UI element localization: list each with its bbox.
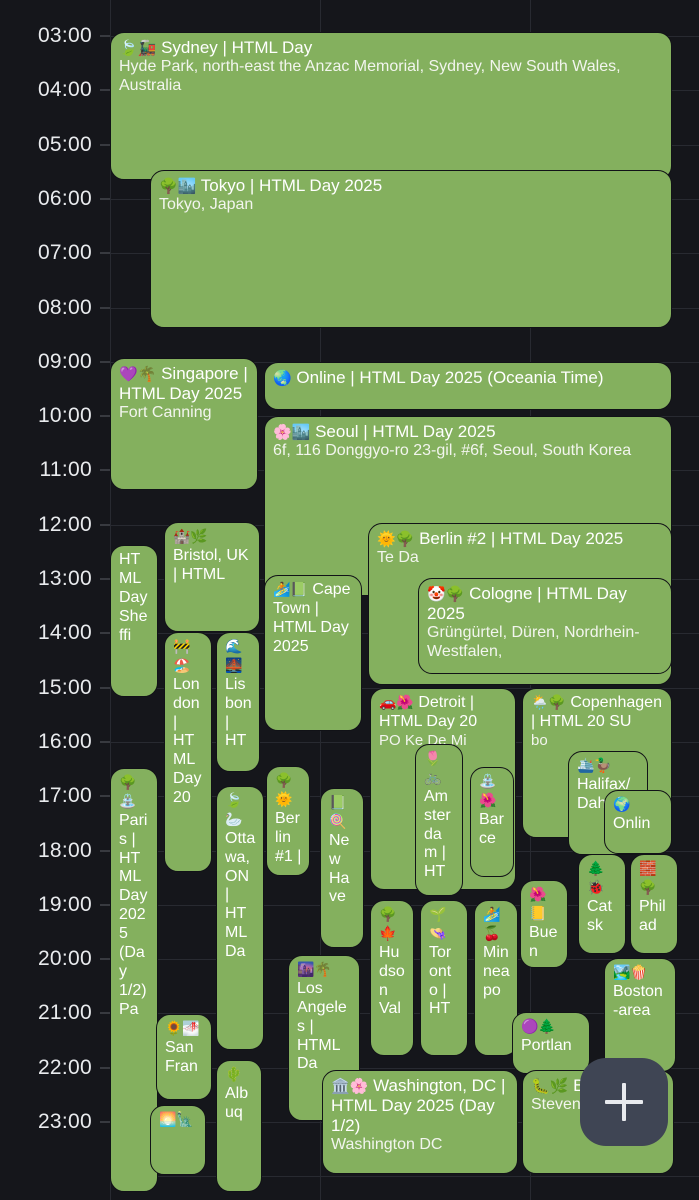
event-title: 🌞🌳 Berlin #2 | HTML Day 2025: [377, 529, 664, 549]
calendar-event[interactable]: 🌏 Online | HTML Day 2025 (Oceania Time): [264, 362, 672, 410]
event-title-text: San Fran: [165, 1039, 198, 1075]
calendar-event[interactable]: 🌺📒 Buen: [520, 880, 568, 968]
event-emoji-icon: 🌵: [225, 1066, 242, 1082]
calendar-event[interactable]: 🏄📗 Cape Town | HTML Day 2025: [264, 575, 362, 731]
calendar-event[interactable]: 🌻🌁 San Fran: [156, 1014, 212, 1100]
event-title-text: Minneapo: [483, 944, 510, 999]
calendar-event[interactable]: 🏞️🍿 Boston-area: [604, 958, 676, 1072]
event-location: Tokyo, Japan: [159, 196, 664, 215]
calendar-event[interactable]: 🍃🦢 Ottawa, ON | HTML Da: [216, 786, 264, 1050]
add-event-fab[interactable]: [580, 1058, 668, 1146]
event-title: 🚧🏖️ London | HTML Day 20: [173, 638, 204, 808]
event-emoji-icon: 🌻🌁: [165, 1020, 200, 1036]
event-title: 📗🍭 New Have: [329, 794, 356, 907]
event-emoji-icon: 🏛️🌸: [331, 1078, 368, 1095]
event-title-text: Lisbon | HT: [225, 676, 252, 750]
calendar-event[interactable]: 🌳🌞 Berlin #1 |: [266, 766, 310, 876]
event-emoji-icon: 🌞🌳: [377, 531, 414, 548]
event-title-text: Tokyo | HTML Day 2025: [201, 176, 382, 195]
event-title: 🌳🍁 Hudson Val: [379, 906, 406, 1019]
event-emoji-icon: 🏰🌿: [173, 528, 208, 544]
event-title: 🟣🌲 Portlan: [521, 1018, 582, 1056]
event-title-text: Ottawa, ON | HTML Da: [225, 830, 255, 960]
event-emoji-icon: 🤡🌳: [427, 586, 464, 603]
event-emoji-icon: 🌆🌴: [297, 961, 332, 977]
calendar-event[interactable]: 🌷🚲 Amsterdam | HT: [415, 744, 463, 896]
event-title: 🌸🏙️ Seoul | HTML Day 2025: [273, 422, 664, 442]
event-title-text: Amsterdam | HT: [424, 788, 451, 881]
event-title: 🏛️🌸 Washington, DC | HTML Day 2025 (Day …: [331, 1076, 510, 1136]
event-emoji-icon: 🏞️🍿: [613, 964, 648, 980]
calendar-event[interactable]: 🌳🏙️ Tokyo | HTML Day 2025Tokyo, Japan: [150, 170, 672, 328]
event-title-text: Seoul | HTML Day 2025: [315, 422, 495, 441]
event-title: ⛲🌺 Barce: [479, 773, 506, 849]
event-title-text: Buen: [529, 924, 557, 960]
event-emoji-icon: 🛳️🦆: [577, 757, 612, 773]
event-title: 🌊🌉 Lisbon | HT: [225, 638, 252, 751]
event-emoji-icon: 🚗🌺: [379, 694, 414, 710]
event-title: 🤡🌳 Cologne | HTML Day 2025: [427, 584, 664, 624]
event-title-text: Toronto | HT: [429, 944, 451, 1018]
event-emoji-icon: 🌳⛲: [119, 774, 136, 809]
event-title-text: Barce: [479, 811, 504, 847]
event-title: 🏄🍒 Minneapo: [483, 906, 510, 1000]
event-title-text: London | HTML Day 20: [173, 676, 201, 806]
event-location: Hyde Park, north-east the Anzac Memorial…: [119, 58, 664, 96]
event-emoji-icon: 🌷🚲: [424, 750, 441, 785]
calendar-event[interactable]: 🌊🌉 Lisbon | HT: [216, 632, 260, 772]
event-title-text: Hudson Val: [379, 944, 405, 1018]
event-title-text: Berlin #2 | HTML Day 2025: [419, 529, 623, 548]
event-emoji-icon: 🌲🐞: [587, 860, 604, 895]
calendar-event[interactable]: 🌳🍁 Hudson Val: [370, 900, 414, 1056]
event-emoji-icon: 🌳🌞: [275, 772, 292, 807]
event-title-text: Portlan: [521, 1037, 572, 1054]
event-title: 🌦️🌳 Copenhagen | HTML 20 SU: [531, 694, 664, 732]
day-calendar-view: 🍃🚂 Sydney | HTML DayHyde Park, north-eas…: [0, 0, 699, 1200]
event-title: 🌅🗽: [159, 1111, 198, 1130]
event-title: 🍃🦢 Ottawa, ON | HTML Da: [225, 792, 256, 962]
event-title: 🌲🐞 Catsk: [587, 860, 618, 936]
event-title-text: New Have: [329, 832, 349, 906]
event-title: 🧱🌳 Philad: [639, 860, 670, 936]
event-emoji-icon: 📗🍭: [329, 794, 346, 829]
event-title-text: HTML Day Sheffi: [119, 551, 147, 644]
event-title: 🌏 Online | HTML Day 2025 (Oceania Time): [273, 368, 664, 388]
event-title: HTML Day Sheffi: [119, 551, 150, 645]
calendar-event[interactable]: 🚧🏖️ London | HTML Day 20: [164, 632, 212, 872]
calendar-event[interactable]: 🌱👒 Toronto | HT: [420, 900, 468, 1056]
calendar-event[interactable]: 🌍 Onlin: [604, 790, 672, 854]
event-emoji-icon: 🟣🌲: [521, 1018, 556, 1034]
calendar-event[interactable]: 🟣🌲 Portlan: [512, 1012, 590, 1074]
event-title: 🌻🌁 San Fran: [165, 1020, 204, 1077]
event-location: Washington DC: [331, 1136, 510, 1155]
event-title-text: Online | HTML Day 2025 (Oceania Time): [296, 368, 603, 387]
event-emoji-icon: 🌏: [273, 370, 292, 387]
event-emoji-icon: ⛲🌺: [479, 773, 496, 808]
event-emoji-icon: 🌳🏙️: [159, 178, 196, 195]
event-emoji-icon: 💜🌴: [119, 366, 156, 383]
calendar-event[interactable]: 🍃🚂 Sydney | HTML DayHyde Park, north-eas…: [110, 32, 672, 180]
event-emoji-icon: 🧱🌳: [639, 860, 656, 895]
event-title: 🌵 Albuq: [225, 1066, 254, 1123]
event-emoji-icon: 🍃🚂: [119, 40, 156, 57]
event-title: 🏞️🍿 Boston-area: [613, 964, 668, 1021]
event-title-text: Albuq: [225, 1085, 248, 1121]
calendar-event[interactable]: 🧱🌳 Philad: [630, 854, 678, 954]
calendar-event[interactable]: 🏛️🌸 Washington, DC | HTML Day 2025 (Day …: [322, 1070, 518, 1174]
event-emoji-icon: 🌳🍁: [379, 906, 396, 941]
event-title-text: Catsk: [587, 898, 612, 934]
event-location: Grüngürtel, Düren, Nordrhein-Westfalen,: [427, 624, 664, 662]
event-title-text: Philad: [639, 898, 666, 934]
event-title-text: Sydney | HTML Day: [161, 38, 312, 57]
event-title: 💜🌴 Singapore | HTML Day 2025: [119, 364, 250, 404]
event-emoji-icon: 🌦️🌳: [531, 694, 566, 710]
event-emoji-icon: 🌊🌉: [225, 638, 242, 673]
event-title: 🌳🌞 Berlin #1 |: [275, 772, 302, 866]
event-title: 🌳🏙️ Tokyo | HTML Day 2025: [159, 176, 664, 196]
event-emoji-icon: 🏄🍒: [483, 906, 500, 941]
event-location: Fort Canning: [119, 404, 250, 423]
event-emoji-icon: 🌸🏙️: [273, 424, 310, 441]
event-title-text: Boston-area: [613, 983, 663, 1019]
events-layer: 🍃🚂 Sydney | HTML DayHyde Park, north-eas…: [0, 0, 699, 1200]
event-location: 6f, 116 Donggyo-ro 23-gil, #6f, Seoul, S…: [273, 442, 664, 461]
calendar-event[interactable]: HTML Day Sheffi: [110, 545, 158, 697]
calendar-event[interactable]: 🌅🗽: [150, 1105, 206, 1175]
event-title: 🌱👒 Toronto | HT: [429, 906, 460, 1019]
event-emoji-icon: 🏄📗: [273, 581, 308, 597]
calendar-event[interactable]: 🤡🌳 Cologne | HTML Day 2025Grüngürtel, Dü…: [418, 578, 672, 674]
event-title-text: Los Angeles | HTML Da: [297, 980, 347, 1073]
event-emoji-icon: 🚧🏖️: [173, 638, 190, 673]
event-title-text: Onlin: [613, 815, 650, 832]
calendar-event[interactable]: 🌵 Albuq: [216, 1060, 262, 1192]
event-title: 🌷🚲 Amsterdam | HT: [424, 750, 455, 882]
event-title: 🌺📒 Buen: [529, 886, 560, 962]
calendar-event[interactable]: 💜🌴 Singapore | HTML Day 2025Fort Canning: [110, 358, 258, 490]
event-emoji-icon: 🌱👒: [429, 906, 446, 941]
event-title: 🌆🌴 Los Angeles | HTML Da: [297, 961, 352, 1074]
event-title-text: Berlin #1 |: [275, 810, 301, 865]
calendar-event[interactable]: ⛲🌺 Barce: [470, 767, 514, 877]
calendar-event[interactable]: 🏰🌿 Bristol, UK | HTML: [164, 522, 260, 632]
calendar-event[interactable]: 🌲🐞 Catsk: [578, 854, 626, 954]
event-location: Te Da: [377, 549, 664, 568]
event-title: 🌍 Onlin: [613, 796, 664, 834]
event-title-text: Paris | HTML Day 2025 (Day 1/2) Pa: [119, 812, 147, 1018]
calendar-event[interactable]: 📗🍭 New Have: [320, 788, 364, 948]
event-emoji-icon: 🐛🌿: [531, 1078, 568, 1095]
event-title: 🌳⛲ Paris | HTML Day 2025 (Day 1/2) Pa: [119, 774, 150, 1019]
plus-icon: [605, 1083, 643, 1121]
event-emoji-icon: 🌅🗽: [159, 1111, 194, 1127]
event-emoji-icon: 🌺📒: [529, 886, 546, 921]
event-title: 🏰🌿 Bristol, UK | HTML: [173, 528, 252, 585]
event-location: bo: [531, 732, 664, 750]
event-title-text: Bristol, UK | HTML: [173, 547, 249, 583]
event-emoji-icon: 🌍: [613, 796, 630, 812]
event-title: 🍃🚂 Sydney | HTML Day: [119, 38, 664, 58]
event-emoji-icon: 🍃🦢: [225, 792, 242, 827]
event-title: 🚗🌺 Detroit | HTML Day 20: [379, 694, 508, 732]
event-title: 🏄📗 Cape Town | HTML Day 2025: [273, 581, 354, 657]
